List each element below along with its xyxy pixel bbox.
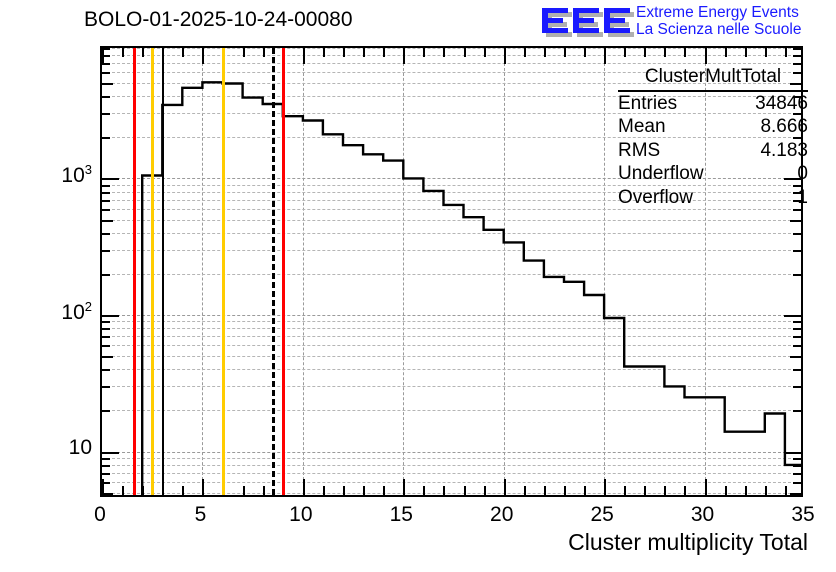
stats-key: Overflow [618,187,693,210]
marker-red-line-low [133,48,136,495]
x-axis-tick-label: 25 [572,503,632,527]
x-axis-tick-label: 30 [673,503,733,527]
x-axis-tick-label: 5 [170,503,230,527]
marker-black-dashed-mean [272,48,275,495]
y-axis-tick-label: 102 [22,299,92,325]
eee-mark-icon [541,3,641,41]
stats-key: Entries [618,93,677,116]
stats-value: 34846 [755,93,808,116]
stats-rows: Entries34846Mean8.666RMS4.183Underflow0O… [618,92,808,210]
stats-row: Overflow1 [618,186,808,210]
stats-key: Mean [618,116,666,139]
stats-key: RMS [618,140,660,163]
y-axis-tick-label: 10 [22,436,92,460]
stats-row: Mean8.666 [618,115,808,139]
logo-line-1: Extreme Energy Events [636,4,801,21]
marker-black-line-low [162,48,164,495]
stats-box: ClusterMultTotal Entries34846Mean8.666RM… [618,66,808,209]
logo-text: Extreme Energy Events La Scienza nelle S… [636,4,801,38]
stats-title: ClusterMultTotal [618,66,808,92]
stats-row: Underflow0 [618,162,808,186]
logo-line-2: La Scienza nelle Scuole [636,21,801,38]
stats-row: Entries34846 [618,92,808,116]
eee-logo: Extreme Energy Events La Scienza nelle S… [541,3,833,41]
stats-value: 4.183 [760,140,808,163]
x-axis-tick-label: 15 [371,503,431,527]
x-axis-tick-label: 35 [773,503,833,527]
x-axis-tick-label: 0 [70,503,130,527]
stats-row: RMS4.183 [618,139,808,163]
stats-value: 8.666 [760,116,808,139]
marker-red-line-high [282,48,285,495]
x-axis-title: Cluster multiplicity Total [568,529,808,556]
x-axis-tick-label: 10 [271,503,331,527]
root-canvas: BOLO-01-2025-10-24-00080 [0,0,836,572]
page-title: BOLO-01-2025-10-24-00080 [84,8,353,32]
stats-key: Underflow [618,163,704,186]
stats-value: 0 [797,163,808,186]
marker-orange-line-low [151,48,154,495]
y-axis-tick-label: 103 [22,162,92,188]
marker-orange-line-mean [222,48,225,495]
stats-value: 1 [797,187,808,210]
x-axis-tick-label: 20 [472,503,532,527]
